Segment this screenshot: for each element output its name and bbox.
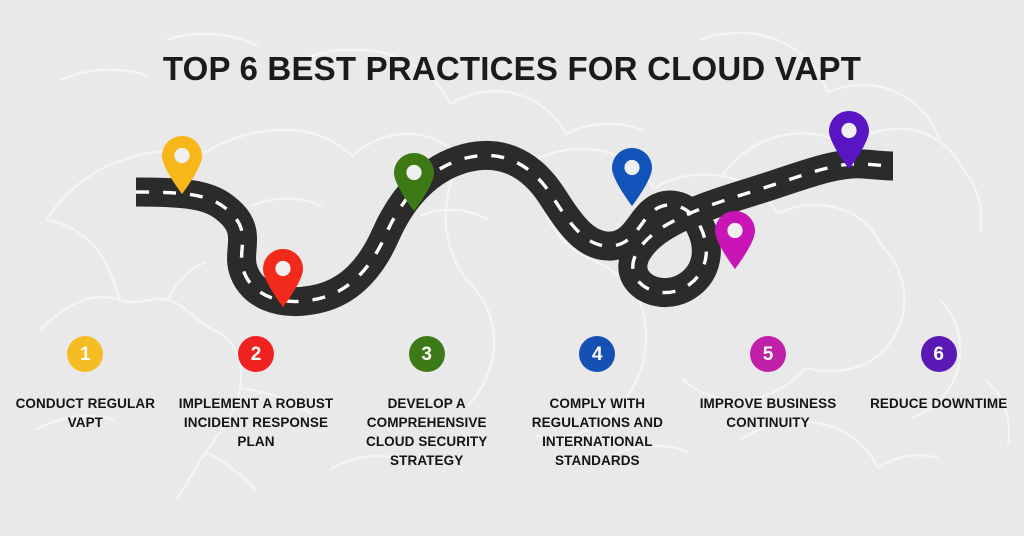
map-pin-1 bbox=[160, 136, 204, 194]
legend-item-6[interactable]: 6REDUCE DOWNTIME bbox=[853, 336, 1024, 413]
legend-item-label-5: IMPROVE BUSINESS CONTINUITY bbox=[686, 394, 850, 432]
legend-item-label-1: CONDUCT REGULAR VAPT bbox=[3, 394, 167, 432]
legend-number-badge-1: 1 bbox=[67, 336, 103, 372]
legend-item-label-4: COMPLY WITH REGULATIONS AND INTERNATIONA… bbox=[515, 394, 679, 471]
legend-item-3[interactable]: 3DEVELOP A COMPREHENSIVE CLOUD SECURITY … bbox=[341, 336, 512, 471]
map-pin-6 bbox=[827, 111, 871, 169]
infographic-canvas: TOP 6 BEST PRACTICES FOR CLOUD VAPT 1CON… bbox=[0, 0, 1024, 536]
legend-item-label-6: REDUCE DOWNTIME bbox=[857, 394, 1021, 413]
legend-number-badge-4: 4 bbox=[579, 336, 615, 372]
legend-item-2[interactable]: 2IMPLEMENT A ROBUST INCIDENT RESPONSE PL… bbox=[171, 336, 342, 451]
legend-row: 1CONDUCT REGULAR VAPT2IMPLEMENT A ROBUST… bbox=[0, 336, 1024, 516]
legend-number-badge-5: 5 bbox=[750, 336, 786, 372]
legend-item-label-2: IMPLEMENT A ROBUST INCIDENT RESPONSE PLA… bbox=[174, 394, 338, 451]
legend-number-badge-6: 6 bbox=[921, 336, 957, 372]
legend-item-1[interactable]: 1CONDUCT REGULAR VAPT bbox=[0, 336, 171, 432]
legend-item-5[interactable]: 5IMPROVE BUSINESS CONTINUITY bbox=[683, 336, 854, 432]
map-pin-3 bbox=[392, 153, 436, 211]
legend-number-badge-3: 3 bbox=[409, 336, 445, 372]
legend-item-4[interactable]: 4COMPLY WITH REGULATIONS AND INTERNATION… bbox=[512, 336, 683, 471]
legend-item-label-3: DEVELOP A COMPREHENSIVE CLOUD SECURITY S… bbox=[345, 394, 509, 471]
map-pin-4 bbox=[610, 148, 654, 206]
map-pin-2 bbox=[261, 249, 305, 307]
map-pin-5 bbox=[713, 211, 757, 269]
legend-number-badge-2: 2 bbox=[238, 336, 274, 372]
